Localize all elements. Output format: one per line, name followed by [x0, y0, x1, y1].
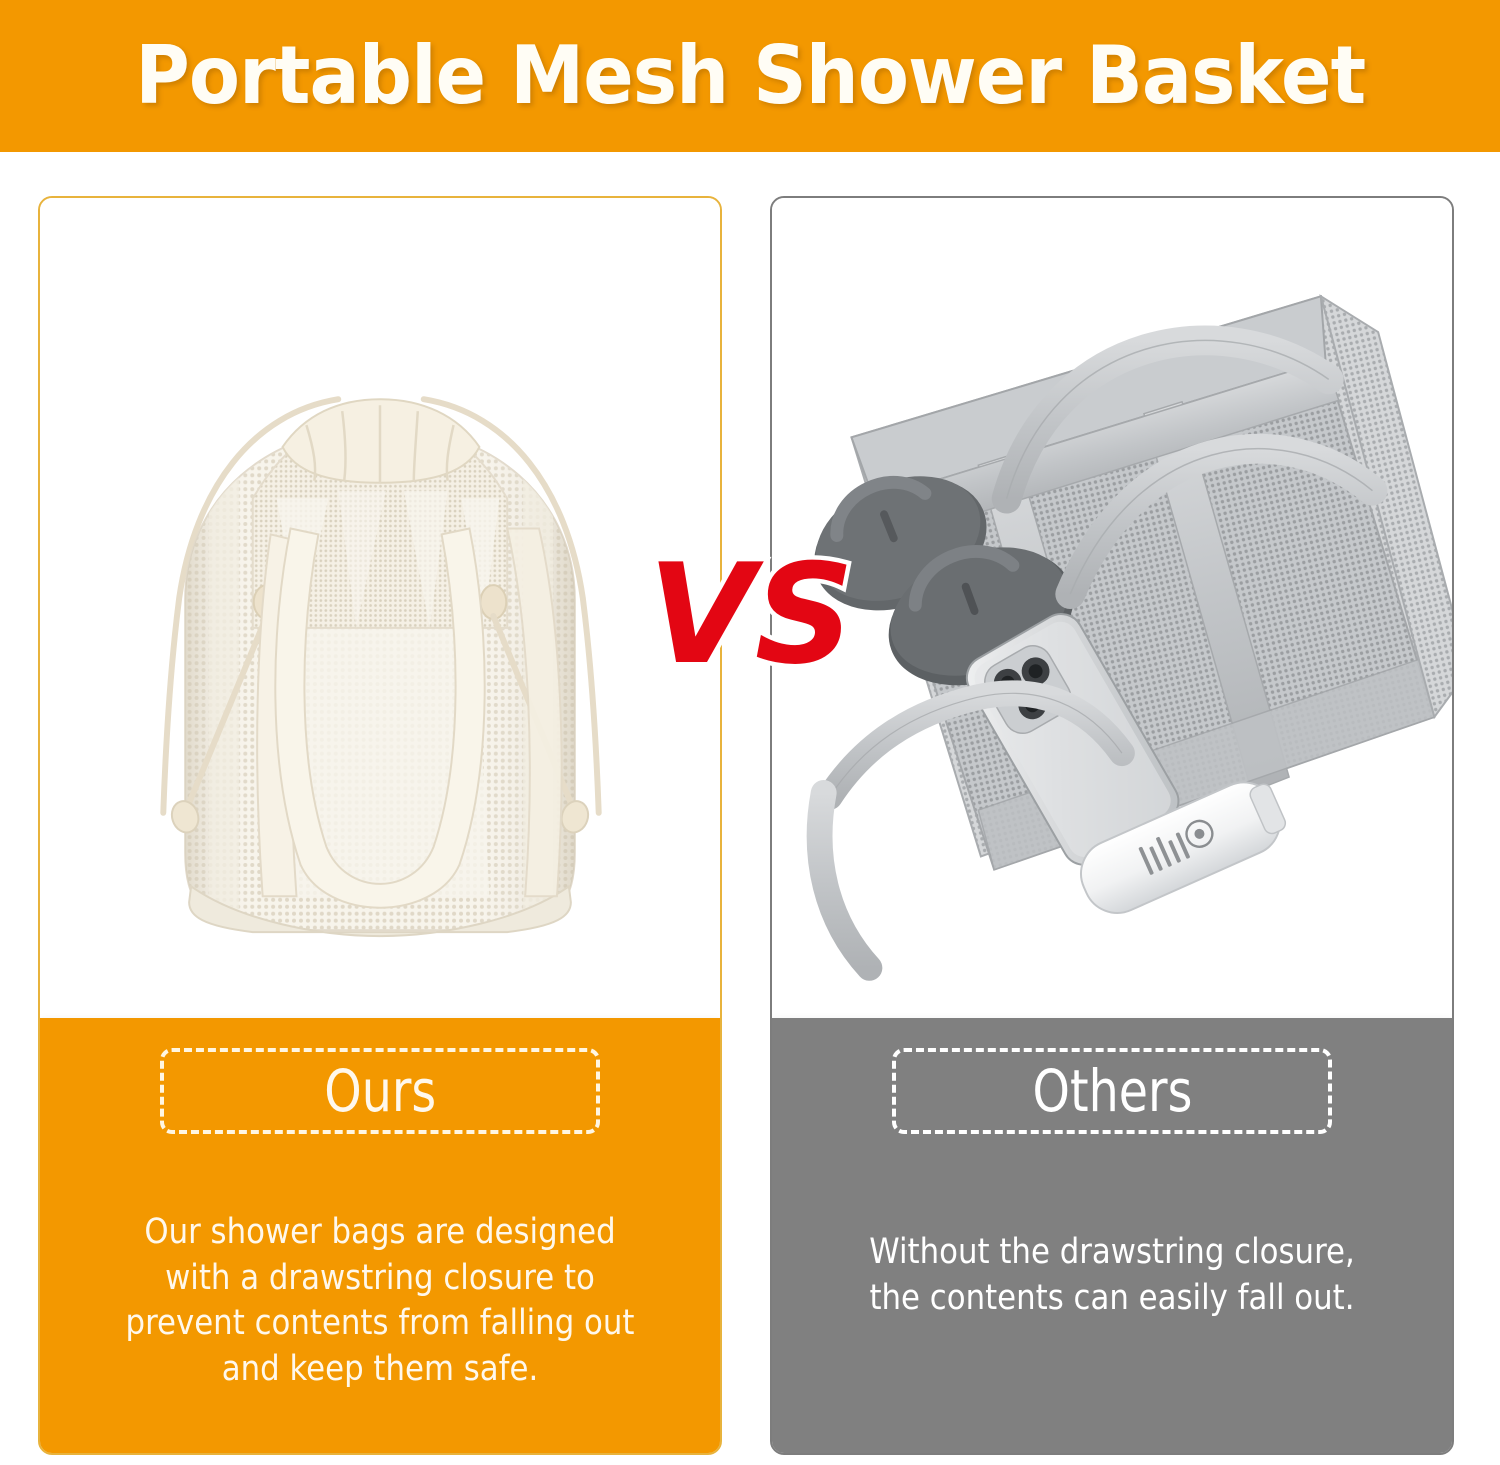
product-photo-others [772, 198, 1452, 1018]
ours-label: Ours [324, 1062, 436, 1120]
ours-info-block: Ours Our shower bags are designed with a… [40, 1018, 720, 1455]
comparison-panel-ours: Ours Our shower bags are designed with a… [38, 196, 722, 1455]
ours-caption: Our shower bags are designed with a draw… [107, 1210, 653, 1392]
others-caption: Without the drawstring closure, the cont… [839, 1230, 1385, 1321]
comparison-panel-others: Others Without the drawstring closure, t… [770, 196, 1454, 1455]
page-title: Portable Mesh Shower Basket [135, 36, 1365, 116]
mesh-drawstring-bucket-bag-image [40, 198, 720, 1018]
ours-label-box: Ours [160, 1048, 600, 1134]
others-label: Others [1032, 1062, 1192, 1120]
others-info-block: Others Without the drawstring closure, t… [772, 1018, 1452, 1455]
others-label-box: Others [892, 1048, 1332, 1134]
product-photo-ours [40, 198, 720, 1018]
header-banner: Portable Mesh Shower Basket [0, 0, 1500, 152]
open-mesh-tote-bag-image [772, 198, 1452, 1018]
